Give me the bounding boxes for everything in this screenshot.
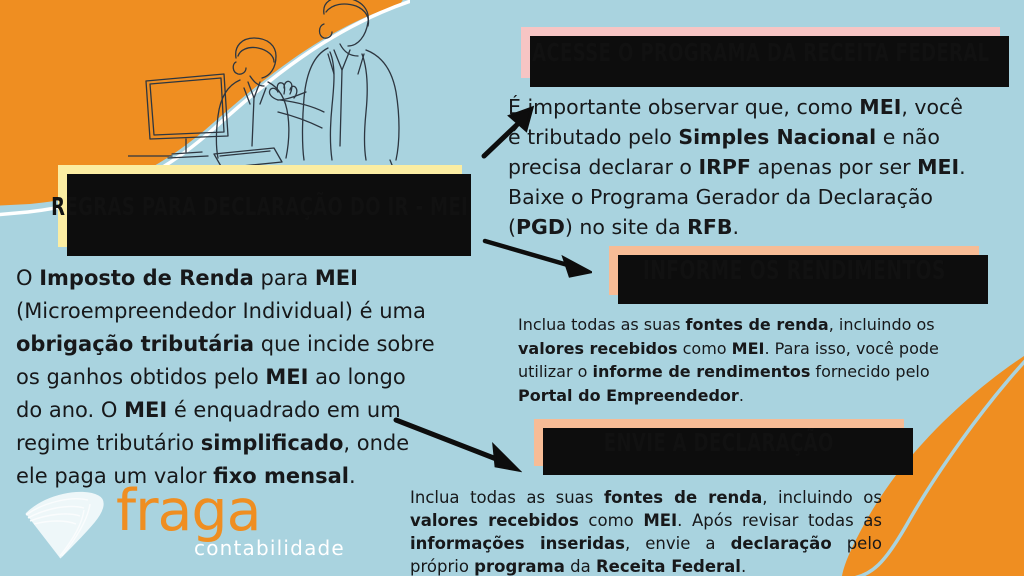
paragraph-acesse-programa: É importante observar que, como MEI, voc… (508, 92, 978, 242)
paragraph-imposto-de-renda-mei: O Imposto de Renda para MEI (Microempree… (16, 262, 436, 493)
banner-informe-label: INFORME OS RENDIMENTOS (643, 256, 946, 286)
banner-envie-declaracao: ENVIE A DECLARAÇÃO (534, 419, 904, 466)
paragraph-informe-rendimentos: Inclua todas as suas fontes de renda, in… (518, 313, 982, 407)
banner-acesse-label: ACESSE O PROGRAMA DA RECEITA FEDERAL (532, 38, 989, 67)
logo-fraga-contabilidade: fraga contabilidade (24, 482, 334, 568)
paragraph-envie-declaracao: Inclua todas as suas fontes de renda, in… (410, 486, 882, 576)
banner-regras-declaracao: REGRAS PARA DECLARAÇÃO DO IR - MEI (58, 165, 462, 247)
arrow-down-right-icon (392, 414, 522, 476)
banner-acesse-programa: ACESSE O PROGRAMA DA RECEITA FEDERAL (521, 27, 1000, 78)
wing-swoosh-logo-mark (24, 484, 116, 562)
arrow-up-right-icon (480, 104, 540, 160)
banner-informe-rendimentos: INFORME OS RENDIMENTOS (609, 246, 979, 295)
banner-regras-label: REGRAS PARA DECLARAÇÃO DO IR - MEI (51, 192, 468, 221)
logo-wordmark: fraga (116, 478, 261, 544)
infographic-canvas: REGRAS PARA DECLARAÇÃO DO IR - MEI ACESS… (0, 0, 1024, 576)
arrow-right-icon (482, 232, 592, 280)
logo-subtitle: contabilidade (194, 536, 345, 560)
banner-envie-label: ENVIE A DECLARAÇÃO (604, 428, 834, 457)
